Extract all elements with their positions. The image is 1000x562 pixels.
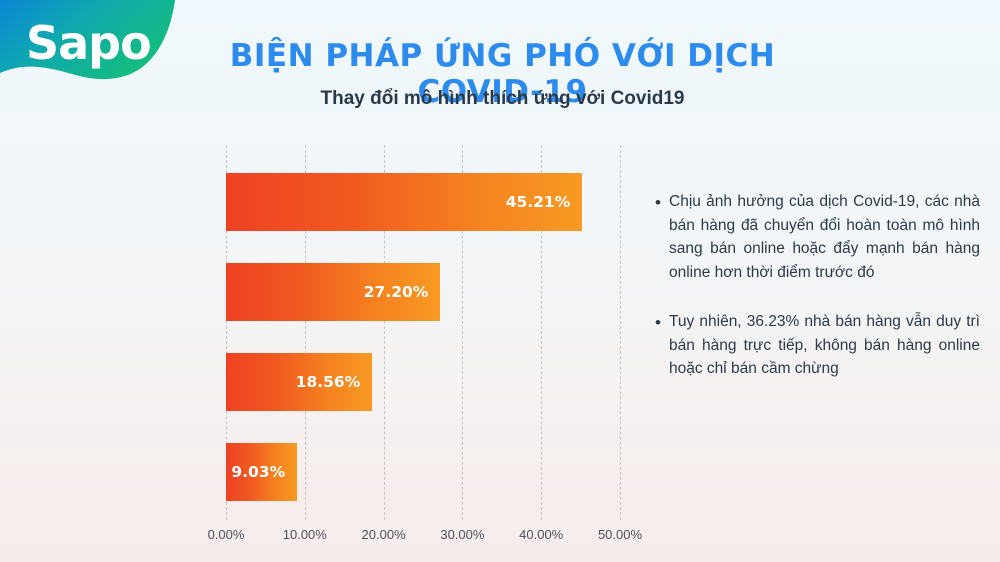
note-text: Tuy nhiên, 36.23% nhà bán hàng vẫn duy t…: [669, 310, 980, 381]
x-axis-tick-label: 30.00%: [440, 527, 484, 542]
bar-value-label: 9.03%: [231, 463, 297, 481]
bullet-dot-icon: •: [655, 190, 669, 284]
x-axis-tick-label: 0.00%: [208, 527, 245, 542]
note-text: Chịu ảnh hưởng của dịch Covid-19, các nh…: [669, 190, 980, 284]
plot-area: 0.00%10.00%20.00%30.00%40.00%50.00%45.21…: [226, 145, 620, 520]
bar-2[interactable]: 27.20%: [226, 263, 440, 321]
bar-value-label: 27.20%: [364, 283, 441, 301]
notes-list: •Chịu ảnh hưởng của dịch Covid-19, các n…: [655, 190, 980, 407]
bar-4[interactable]: 9.03%: [226, 443, 297, 501]
page-subtitle: Thay đổi mô hình thích ứng với Covid19: [175, 88, 830, 110]
note-item-2: •Tuy nhiên, 36.23% nhà bán hàng vẫn duy …: [655, 310, 980, 381]
x-axis-tick-label: 50.00%: [598, 527, 642, 542]
x-axis-tick-label: 20.00%: [362, 527, 406, 542]
gridline: [620, 145, 621, 520]
sapo-logo-text: Sapo: [26, 16, 151, 70]
bar-value-label: 18.56%: [296, 373, 373, 391]
bar-3[interactable]: 18.56%: [226, 353, 372, 411]
x-axis-tick-label: 10.00%: [283, 527, 327, 542]
bullet-dot-icon: •: [655, 310, 669, 381]
bar-value-label: 45.21%: [506, 193, 583, 211]
bar-chart: 0.00%10.00%20.00%30.00%40.00%50.00%45.21…: [0, 125, 650, 545]
bar-1[interactable]: 45.21%: [226, 173, 582, 231]
note-item-1: •Chịu ảnh hưởng của dịch Covid-19, các n…: [655, 190, 980, 284]
x-axis-tick-label: 40.00%: [519, 527, 563, 542]
